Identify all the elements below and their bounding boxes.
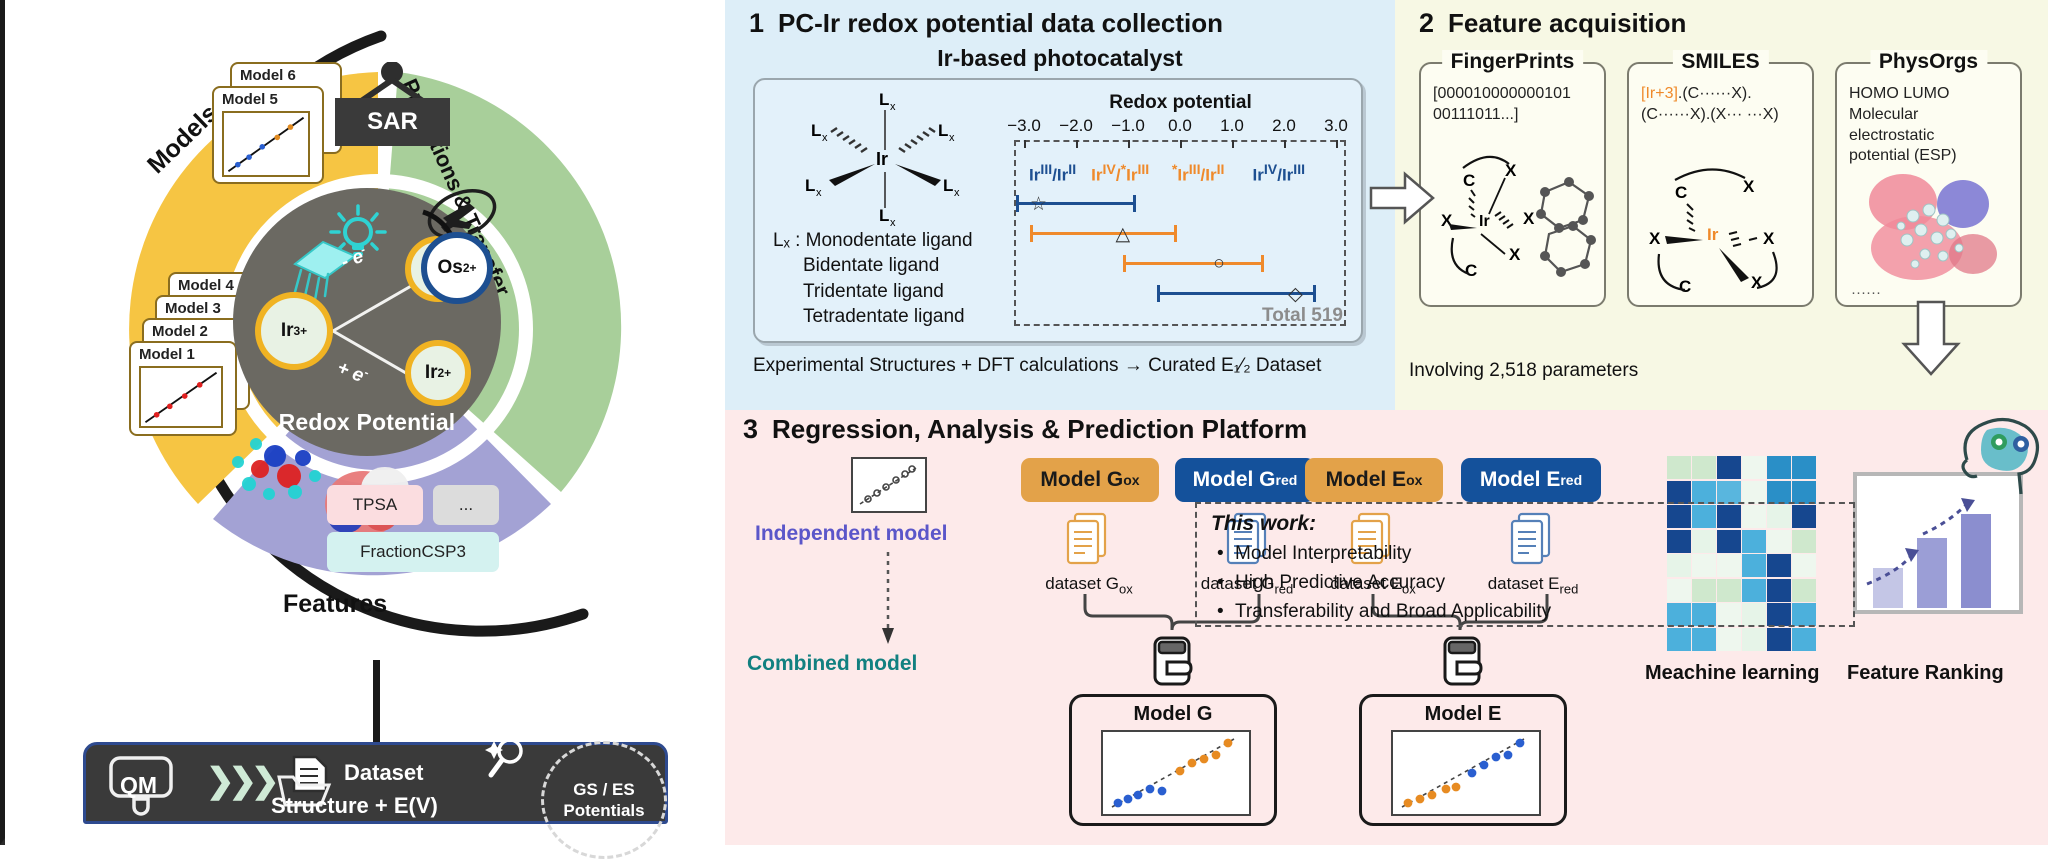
model-g-box: Model G bbox=[1069, 694, 1277, 826]
brain-icon bbox=[1953, 412, 2048, 498]
ligand-line-2: Bidentate ligand bbox=[773, 253, 973, 278]
ligand-line-4: Tetradentate ligand bbox=[773, 304, 973, 329]
ion-label: Ir bbox=[281, 320, 294, 342]
heatmap-cell bbox=[1742, 456, 1766, 479]
panel-data-collection: 1 PC-Ir redox potential data collection … bbox=[725, 0, 1395, 410]
heatmap-cell bbox=[1692, 628, 1716, 651]
redox-series-label: IrIII/IrII bbox=[1029, 162, 1076, 186]
gs-es-line1: GS / ES bbox=[573, 779, 634, 800]
svg-text:C: C bbox=[1463, 171, 1475, 190]
svg-text:L: L bbox=[943, 176, 953, 195]
redox-bar-cap bbox=[1123, 255, 1126, 272]
redox-potential-chart: Redox potential −3.0−2.0−1.00.01.02.03.0… bbox=[1008, 92, 1353, 332]
sar-label: SAR bbox=[367, 108, 418, 136]
model-g-title: Model G bbox=[1072, 703, 1274, 726]
dataset-label: Dataset bbox=[344, 760, 423, 786]
card-fingerprints-body: [000010000000101 00111011...] bbox=[1433, 84, 1594, 126]
model-e-title: Model E bbox=[1362, 703, 1564, 726]
redox-tick-label: 1.0 bbox=[1220, 116, 1244, 136]
model-ered-button[interactable]: Model Ered bbox=[1461, 458, 1601, 502]
ion-ir3plus: Ir3+ bbox=[255, 292, 333, 370]
svg-text:L: L bbox=[811, 121, 821, 140]
redox-tick-mark bbox=[1336, 140, 1338, 148]
panel1-subtitle: Ir-based photocatalyst bbox=[725, 45, 1395, 72]
svg-text:x: x bbox=[890, 101, 896, 113]
structure-label: Structure + E(V) bbox=[271, 793, 438, 819]
svg-text:C: C bbox=[1465, 261, 1477, 280]
redox-bar-cap bbox=[1133, 195, 1136, 212]
svg-text:X: X bbox=[1649, 229, 1661, 248]
heatmap-cell bbox=[1667, 456, 1691, 479]
redox-tick-mark bbox=[1128, 140, 1130, 148]
redox-tick-mark bbox=[1180, 140, 1182, 148]
redox-range-bar: ◇ bbox=[1157, 292, 1317, 295]
model-g-plot bbox=[1100, 729, 1252, 817]
redox-tick-label: −1.0 bbox=[1111, 116, 1145, 136]
svg-text:X: X bbox=[1743, 177, 1755, 196]
model-plot-5 bbox=[222, 111, 310, 177]
panel1-number: 1 bbox=[749, 8, 764, 39]
redox-tick-label: 2.0 bbox=[1272, 116, 1296, 136]
this-work-item-2: High Predictive Accuracy bbox=[1211, 572, 1839, 594]
heatmap-cell bbox=[1767, 456, 1791, 479]
arrow-right-icon bbox=[1369, 168, 1439, 228]
redox-center-marker: ◇ bbox=[1288, 283, 1303, 306]
redox-range-bar: △ bbox=[1030, 232, 1177, 235]
processor-e-icon bbox=[1435, 634, 1491, 690]
gs-es-line2: Potentials bbox=[563, 800, 644, 821]
svg-text:L: L bbox=[879, 90, 889, 109]
this-work-item-1: Model Interpretability bbox=[1211, 543, 1839, 565]
ion-charge: 2+ bbox=[438, 366, 452, 380]
independent-model-label: Independent model bbox=[755, 522, 948, 546]
svg-text:Ir: Ir bbox=[1707, 225, 1719, 244]
panel2-header: 2 Feature acquisition bbox=[1419, 8, 1686, 39]
redox-bar-cap bbox=[1157, 285, 1160, 302]
physorgs-ellipsis: ······ bbox=[1851, 284, 1881, 301]
fingerprint-structure-icon: C X X C X X Ir bbox=[1427, 142, 1603, 302]
svg-text:X: X bbox=[1751, 273, 1763, 292]
heatmap-cell bbox=[1767, 481, 1791, 504]
redox-series-label: IrIV/*IrIII bbox=[1091, 162, 1149, 186]
card-fingerprints-title: FingerPrints bbox=[1442, 50, 1584, 74]
ligand-type-list: Lₓ : Monodentate ligand Bidentate ligand… bbox=[773, 228, 973, 329]
gs-es-potentials-circle: GS / ES Potentials bbox=[541, 741, 667, 859]
panel2-footer: Involving 2,518 parameters bbox=[1409, 360, 1638, 382]
svg-text:X: X bbox=[1505, 161, 1517, 180]
processor-g-icon bbox=[1145, 634, 1201, 690]
heatmap-cell bbox=[1717, 481, 1741, 504]
panel1-caption: Experimental Structures + DFT calculatio… bbox=[753, 355, 1321, 377]
os-label: Os bbox=[437, 257, 462, 279]
panel2-title: Feature acquisition bbox=[1448, 8, 1686, 39]
heatmap-cell bbox=[1767, 628, 1791, 651]
heatmap-cell bbox=[1742, 481, 1766, 504]
redox-range-bar: ☆ bbox=[1016, 202, 1136, 205]
heatmap-cell bbox=[1692, 481, 1716, 504]
redox-tick-mark bbox=[1284, 140, 1286, 148]
panel1-header: 1 PC-Ir redox potential data collection bbox=[749, 8, 1223, 39]
model-eox-button[interactable]: Model Eox bbox=[1305, 458, 1443, 502]
heatmap-cell bbox=[1717, 628, 1741, 651]
card-physorgs: PhysOrgs HOMO LUMO Molecular electrostat… bbox=[1835, 62, 2022, 307]
redox-range-bar: ○ bbox=[1123, 262, 1264, 265]
model-plot-1 bbox=[139, 366, 223, 428]
card-smiles-title: SMILES bbox=[1672, 50, 1768, 74]
model-e-box: Model E bbox=[1359, 694, 1567, 826]
figure-root: Models Predictions & Transfer Features M… bbox=[0, 0, 2048, 845]
model-gred-button[interactable]: Model Gred bbox=[1175, 458, 1315, 502]
os-ion: Os2+ bbox=[421, 232, 493, 304]
esp-surface-icon bbox=[1855, 168, 2009, 288]
redox-tick-label: 3.0 bbox=[1324, 116, 1348, 136]
model-card-label: Model 5 bbox=[222, 91, 278, 108]
redox-total-label: Total 519 bbox=[1262, 305, 1343, 327]
redox-bar-cap bbox=[1030, 225, 1033, 242]
panel1-card: L x L x L x L x L x L x Ir bbox=[753, 78, 1363, 343]
ion-label: Ir bbox=[425, 362, 438, 384]
svg-text:Ir: Ir bbox=[1479, 213, 1490, 230]
heatmap-cell bbox=[1667, 628, 1691, 651]
redox-series-label: IrIV/IrIII bbox=[1252, 162, 1305, 186]
smiles-prefix: [Ir+3] bbox=[1641, 85, 1678, 102]
redox-tick-label: −3.0 bbox=[1007, 116, 1041, 136]
redox-tick-label: 0.0 bbox=[1168, 116, 1192, 136]
redox-bars-layer: IrIII/IrIIIrIV/*IrIII*IrIII/IrIIIrIV/IrI… bbox=[1014, 140, 1346, 326]
svg-text:x: x bbox=[822, 132, 828, 144]
magnifier-icon bbox=[478, 733, 538, 789]
card-fingerprints: FingerPrints [000010000000101 00111011..… bbox=[1419, 62, 1606, 307]
model-card-label: Model 3 bbox=[165, 300, 221, 317]
heatmap-cell bbox=[1792, 628, 1816, 651]
redox-tick-mark bbox=[1076, 140, 1078, 148]
workflow-wheel-panel: Models Predictions & Transfer Features M… bbox=[5, 0, 725, 845]
feature-ranking-label: Feature Ranking bbox=[1847, 662, 2004, 685]
card-smiles: SMILES [Ir+3].(C······X).(C······X).(X··… bbox=[1627, 62, 1814, 307]
svg-text:x: x bbox=[890, 217, 896, 228]
redox-center-marker: △ bbox=[1115, 223, 1130, 246]
heatmap-cell bbox=[1742, 628, 1766, 651]
redox-tick-label: −2.0 bbox=[1059, 116, 1093, 136]
model-card-label: Model 4 bbox=[178, 277, 234, 294]
connector-stem bbox=[373, 660, 380, 746]
redox-tick-mark bbox=[1232, 140, 1234, 148]
heatmap-cell bbox=[1717, 456, 1741, 479]
core-title: Redox Potential bbox=[233, 409, 501, 436]
model-card-5: Model 5 bbox=[212, 86, 324, 184]
svg-text:Ir: Ir bbox=[876, 149, 888, 169]
redox-bar-cap bbox=[1261, 255, 1264, 272]
heatmap-cell bbox=[1692, 456, 1716, 479]
sar-sign: SAR bbox=[335, 98, 450, 146]
svg-text:L: L bbox=[879, 206, 889, 225]
qm-label: QM bbox=[120, 772, 157, 799]
chip-fractioncsp3: FractionCSP3 bbox=[327, 532, 499, 572]
ligand-line-3: Tridentate ligand bbox=[773, 279, 973, 304]
card-physorgs-title: PhysOrgs bbox=[1870, 50, 1987, 74]
svg-text:x: x bbox=[949, 132, 955, 144]
svg-text:X: X bbox=[1763, 229, 1775, 248]
svg-text:x: x bbox=[954, 187, 960, 199]
combined-model-label: Combined model bbox=[747, 652, 917, 676]
card-physorgs-body: HOMO LUMO Molecular electrostatic potent… bbox=[1849, 84, 2010, 167]
svg-text:X: X bbox=[1523, 209, 1535, 228]
card-smiles-body: [Ir+3].(C······X).(C······X).(X··· ···X) bbox=[1641, 84, 1802, 126]
heatmap-cell bbox=[1792, 481, 1816, 504]
heatmap-cell bbox=[1667, 481, 1691, 504]
this-work-item-3: Transferability and Broad Applicability bbox=[1211, 601, 1839, 623]
svg-text:L: L bbox=[938, 121, 948, 140]
model-card-1: Model 1 bbox=[129, 341, 237, 436]
svg-text:L: L bbox=[805, 176, 815, 195]
panel-feature-acquisition: 2 Feature acquisition FingerPrints [0000… bbox=[1395, 0, 2048, 410]
panel3-header: 3 Regression, Analysis & Prediction Plat… bbox=[743, 414, 1307, 445]
model-card-label: Model 2 bbox=[152, 323, 208, 340]
model-card-label: Model 1 bbox=[139, 346, 195, 363]
redox-axis: −3.0−2.0−1.00.01.02.03.0 bbox=[1008, 116, 1353, 138]
redox-chart-title: Redox potential bbox=[1008, 92, 1353, 114]
dataset-gox-icon bbox=[1065, 512, 1111, 568]
qm-dataset-bar: QM ❯❯❯ Dataset Structure + E(V) GS / ES … bbox=[83, 742, 668, 824]
redox-bar-cap bbox=[1174, 225, 1177, 242]
redox-bar-cap bbox=[1016, 195, 1019, 212]
model-e-plot bbox=[1390, 729, 1542, 817]
chip-ellipsis: ... bbox=[433, 485, 499, 525]
chip-tpsa: TPSA bbox=[327, 485, 423, 525]
heatmap-cell bbox=[1792, 456, 1816, 479]
independent-model-plot bbox=[850, 456, 928, 514]
arrow-down-icon bbox=[1900, 300, 1962, 378]
ml-heatmap-label: Meachine learning bbox=[1645, 662, 1820, 685]
independent-to-combined-arrow bbox=[877, 552, 899, 648]
os-charge: 2+ bbox=[463, 261, 477, 275]
svg-text:x: x bbox=[816, 187, 822, 199]
chevrons-icon: ❯❯❯ bbox=[206, 761, 273, 801]
segment-label-features: Features bbox=[283, 590, 387, 619]
redox-center-marker: ○ bbox=[1213, 253, 1224, 275]
ligand-line-1: Lₓ : Monodentate ligand bbox=[773, 228, 973, 253]
redox-center-marker: ☆ bbox=[1030, 193, 1047, 216]
redox-tick-mark bbox=[1024, 140, 1026, 148]
redox-bar-cap bbox=[1313, 285, 1316, 302]
panel-regression-platform: 3 Regression, Analysis & Prediction Plat… bbox=[725, 410, 2048, 845]
panel2-number: 2 bbox=[1419, 8, 1434, 39]
panel3-title: Regression, Analysis & Prediction Platfo… bbox=[772, 414, 1307, 445]
redox-series-label: *IrIII/IrII bbox=[1172, 162, 1225, 186]
ion-ir2plus: Ir2+ bbox=[405, 340, 471, 406]
octahedral-complex-icon: L x L x L x L x L x L x Ir bbox=[783, 88, 988, 228]
svg-text:C: C bbox=[1679, 277, 1691, 296]
svg-text:X: X bbox=[1509, 245, 1521, 264]
smiles-structure-icon: C X X X C X Ir bbox=[1645, 160, 1805, 302]
panel1-title: PC-Ir redox potential data collection bbox=[778, 8, 1223, 39]
model-gox-button[interactable]: Model Gox bbox=[1021, 458, 1159, 502]
model-card-label: Model 6 bbox=[240, 67, 296, 84]
ion-charge: 3+ bbox=[294, 324, 308, 338]
svg-text:C: C bbox=[1675, 183, 1687, 202]
this-work-title: This work: bbox=[1211, 512, 1839, 536]
this-work-box: This work: Model Interpretability High P… bbox=[1195, 502, 1855, 627]
panel3-number: 3 bbox=[743, 414, 758, 445]
